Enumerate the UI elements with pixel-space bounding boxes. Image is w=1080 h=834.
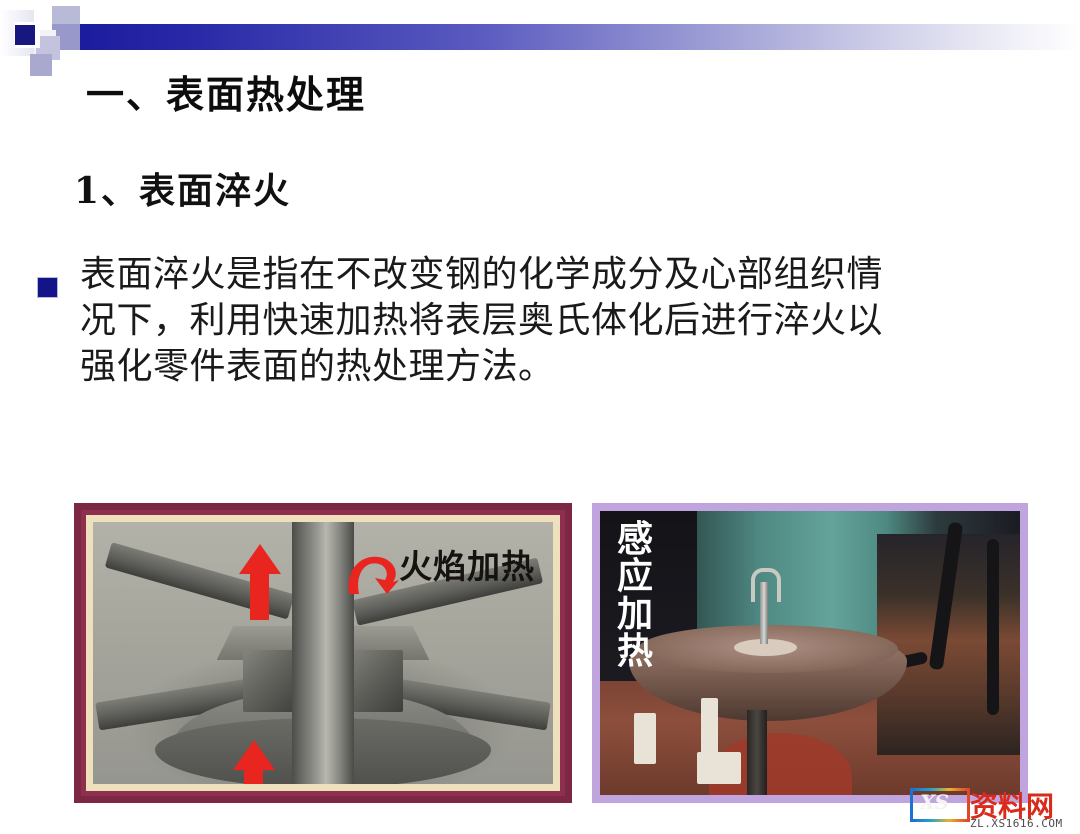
- page-title: 一、表面热处理: [86, 64, 366, 119]
- paragraph-line-3: 强化零件表面的热处理方法。: [80, 344, 1046, 390]
- figure-flame-heating-frame: 火焰加热: [86, 515, 560, 791]
- up-arrow-top-icon: [239, 544, 281, 574]
- deco-square-6: [30, 54, 52, 76]
- bullet-paragraph-text: 表面淬火是指在不改变钢的化学成分及心部组织情 况下，利用快速加热将表层奥氏体化后…: [80, 252, 1046, 390]
- figure-induction-heating: 感应加热: [592, 503, 1028, 803]
- figure-caption-flame: 火焰加热: [399, 540, 535, 588]
- bullet-paragraph: 表面淬火是指在不改变钢的化学成分及心部组织情 况下，利用快速加热将表层奥氏体化后…: [36, 252, 1046, 390]
- up-arrow-top-stem: [250, 572, 269, 620]
- up-arrow-bottom-icon: [233, 740, 275, 770]
- deco-square-accent: [15, 25, 35, 45]
- header-gradient-bar: [78, 24, 1080, 50]
- machine-pipe-2: [987, 539, 999, 715]
- support-leg-c: [697, 752, 741, 783]
- flame-heating-illustration: 火焰加热: [93, 522, 553, 784]
- up-arrow-bottom-stem: [244, 768, 263, 791]
- square-bullet-icon: [38, 278, 57, 297]
- workpiece-pedestal: [747, 710, 767, 795]
- figure-caption-induction: 感应加热: [612, 521, 658, 671]
- section-subtitle: 1、表面淬火: [74, 162, 291, 214]
- figure-flame-heating: 火焰加热: [74, 503, 572, 803]
- watermark-url: ZL.XS1616.COM: [970, 817, 1063, 830]
- watermark: XS 资料网 ZL.XS1616.COM: [908, 786, 1076, 832]
- watermark-mark: XS: [920, 790, 948, 814]
- lifting-hook: [751, 568, 781, 602]
- rotation-arrow-icon: [343, 550, 401, 602]
- figure-induction-heating-frame: 感应加热: [600, 511, 1020, 795]
- paragraph-line-1: 表面淬火是指在不改变钢的化学成分及心部组织情: [80, 252, 1046, 298]
- support-leg-a: [634, 713, 656, 764]
- paragraph-line-2: 况下，利用快速加热将表层奥氏体化后进行淬火以: [80, 298, 1046, 344]
